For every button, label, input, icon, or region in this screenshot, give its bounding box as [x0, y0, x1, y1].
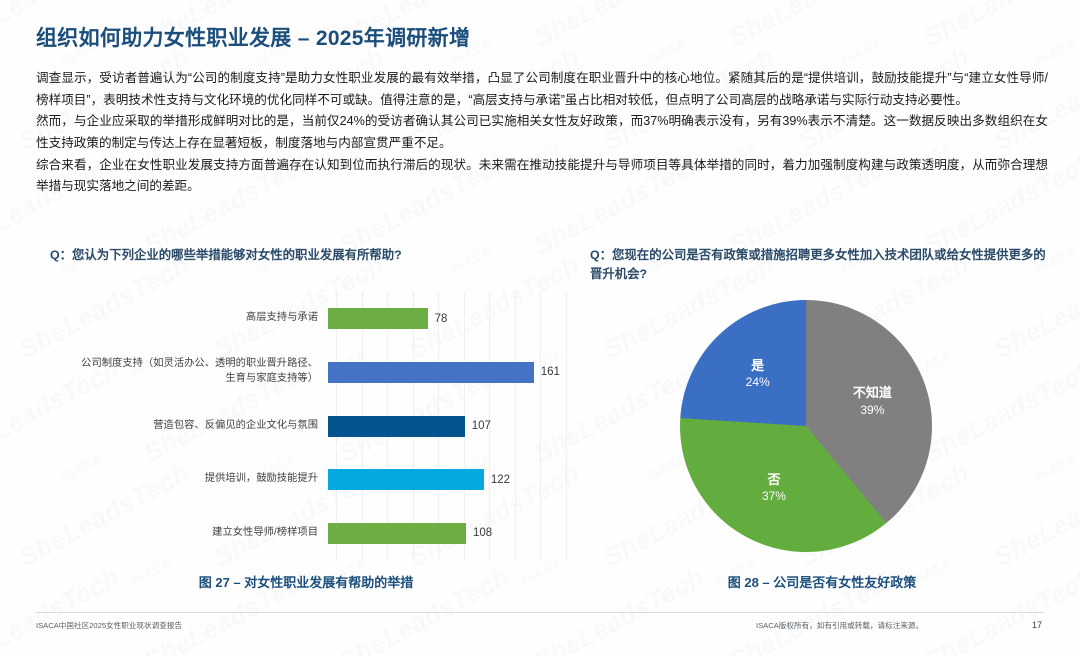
figure-caption-27: 图 27 – 对女性职业发展有帮助的举措	[36, 572, 576, 591]
paragraph-1: 调查显示，受访者普遍认为“公司的制度支持”是助力女性职业发展的最有效举措，凸显了…	[36, 68, 1048, 111]
paragraph-3: 综合来看，企业在女性职业发展支持方面普遍存在认知到位而执行滞后的现状。未来需在推…	[36, 155, 1048, 198]
bar-chart-row: 提供培训，鼓励技能提升122	[36, 457, 576, 503]
footer-copyright: ISACA版权所有，如有引用或转载，请标注来源。	[756, 620, 923, 631]
bar-wrapper: 108	[328, 510, 576, 556]
bar-value-label: 108	[473, 527, 492, 539]
bar-wrapper: 78	[328, 296, 576, 342]
watermark-text: SheLeadsTech	[724, 0, 905, 53]
watermark-text-small: ISACA	[839, 35, 884, 68]
pie-disc	[680, 300, 932, 552]
bar-wrapper: 107	[328, 403, 576, 449]
bar-chart-rows: 高层支持与承诺78公司制度支持（如灵活办公、透明的职业晋升路径、生育与家庭支持等…	[36, 292, 576, 560]
watermark-text: SheLeadsTech	[919, 0, 1080, 53]
bar-chart: 高层支持与承诺78公司制度支持（如灵活办公、透明的职业晋升路径、生育与家庭支持等…	[36, 292, 576, 560]
bar[interactable]	[328, 523, 466, 544]
pie-label-unknown: 不知道 39%	[832, 384, 912, 418]
page-title: 组织如何助力女性职业发展 – 2025年调研新增	[36, 22, 470, 52]
pie-label-name: 否	[734, 471, 814, 489]
body-text: 调查显示，受访者普遍认为“公司的制度支持”是助力女性职业发展的最有效举措，凸显了…	[36, 68, 1048, 198]
pie-label-yes: 是 24%	[718, 357, 798, 391]
figure-caption-28: 图 28 – 公司是否有女性友好政策	[596, 572, 1048, 591]
bar-value-label: 122	[491, 474, 510, 486]
bar-label: 建立女性导师/榜样项目	[36, 526, 328, 541]
watermark-text-small: ISACA	[644, 35, 689, 68]
bar-label: 高层支持与承诺	[36, 311, 328, 326]
bar[interactable]	[328, 362, 534, 383]
bar-label: 公司制度支持（如灵活办公、透明的职业晋升路径、生育与家庭支持等）	[36, 357, 328, 387]
footer-page-number: 17	[1032, 620, 1042, 630]
question-label-right: Q：您现在的公司是否有政策或措施招聘更多女性加入技术团队或给女性提供更多的晋升机…	[590, 246, 1050, 283]
footer-report-name: ISACA中国社区2025女性职业现状调查报告	[36, 620, 182, 631]
pie-chart: 不知道 39% 否 37% 是 24%	[596, 292, 1048, 560]
pie-label-name: 不知道	[832, 384, 912, 402]
pie-label-no: 否 37%	[734, 471, 814, 505]
bar-chart-row: 公司制度支持（如灵活办公、透明的职业晋升路径、生育与家庭支持等）161	[36, 349, 576, 395]
report-page: SheLeadsTechISACASheLeadsTechISACASheLea…	[0, 0, 1080, 656]
question-label-left: Q：您认为下列企业的哪些举措能够对女性的职业发展有所帮助?	[50, 246, 570, 265]
bar-wrapper: 161	[328, 349, 576, 395]
bar-wrapper: 122	[328, 457, 576, 503]
bar-chart-row: 建立女性导师/榜样项目108	[36, 510, 576, 556]
watermark-text: SheLeadsTech	[529, 0, 710, 53]
bar-label: 提供培训，鼓励技能提升	[36, 472, 328, 487]
bar-value-label: 161	[541, 366, 560, 378]
bar[interactable]	[328, 469, 484, 490]
pie-label-pct: 24%	[718, 374, 798, 390]
pie-label-pct: 37%	[734, 488, 814, 504]
watermark-text-small: ISACA	[1034, 35, 1079, 68]
bar-value-label: 107	[472, 420, 491, 432]
footer-divider	[36, 612, 1044, 613]
bar[interactable]	[328, 308, 428, 329]
bar-chart-row: 高层支持与承诺78	[36, 296, 576, 342]
paragraph-2: 然而，与企业应采取的举措形成鲜明对比的是，当前仅24%的受访者确认其公司已实施相…	[36, 111, 1048, 154]
bar-chart-row: 营造包容、反偏见的企业文化与氛围107	[36, 403, 576, 449]
pie-label-name: 是	[718, 357, 798, 375]
bar[interactable]	[328, 416, 465, 437]
pie-label-pct: 39%	[832, 402, 912, 418]
bar-value-label: 78	[435, 313, 448, 325]
bar-label: 营造包容、反偏见的企业文化与氛围	[36, 419, 328, 434]
